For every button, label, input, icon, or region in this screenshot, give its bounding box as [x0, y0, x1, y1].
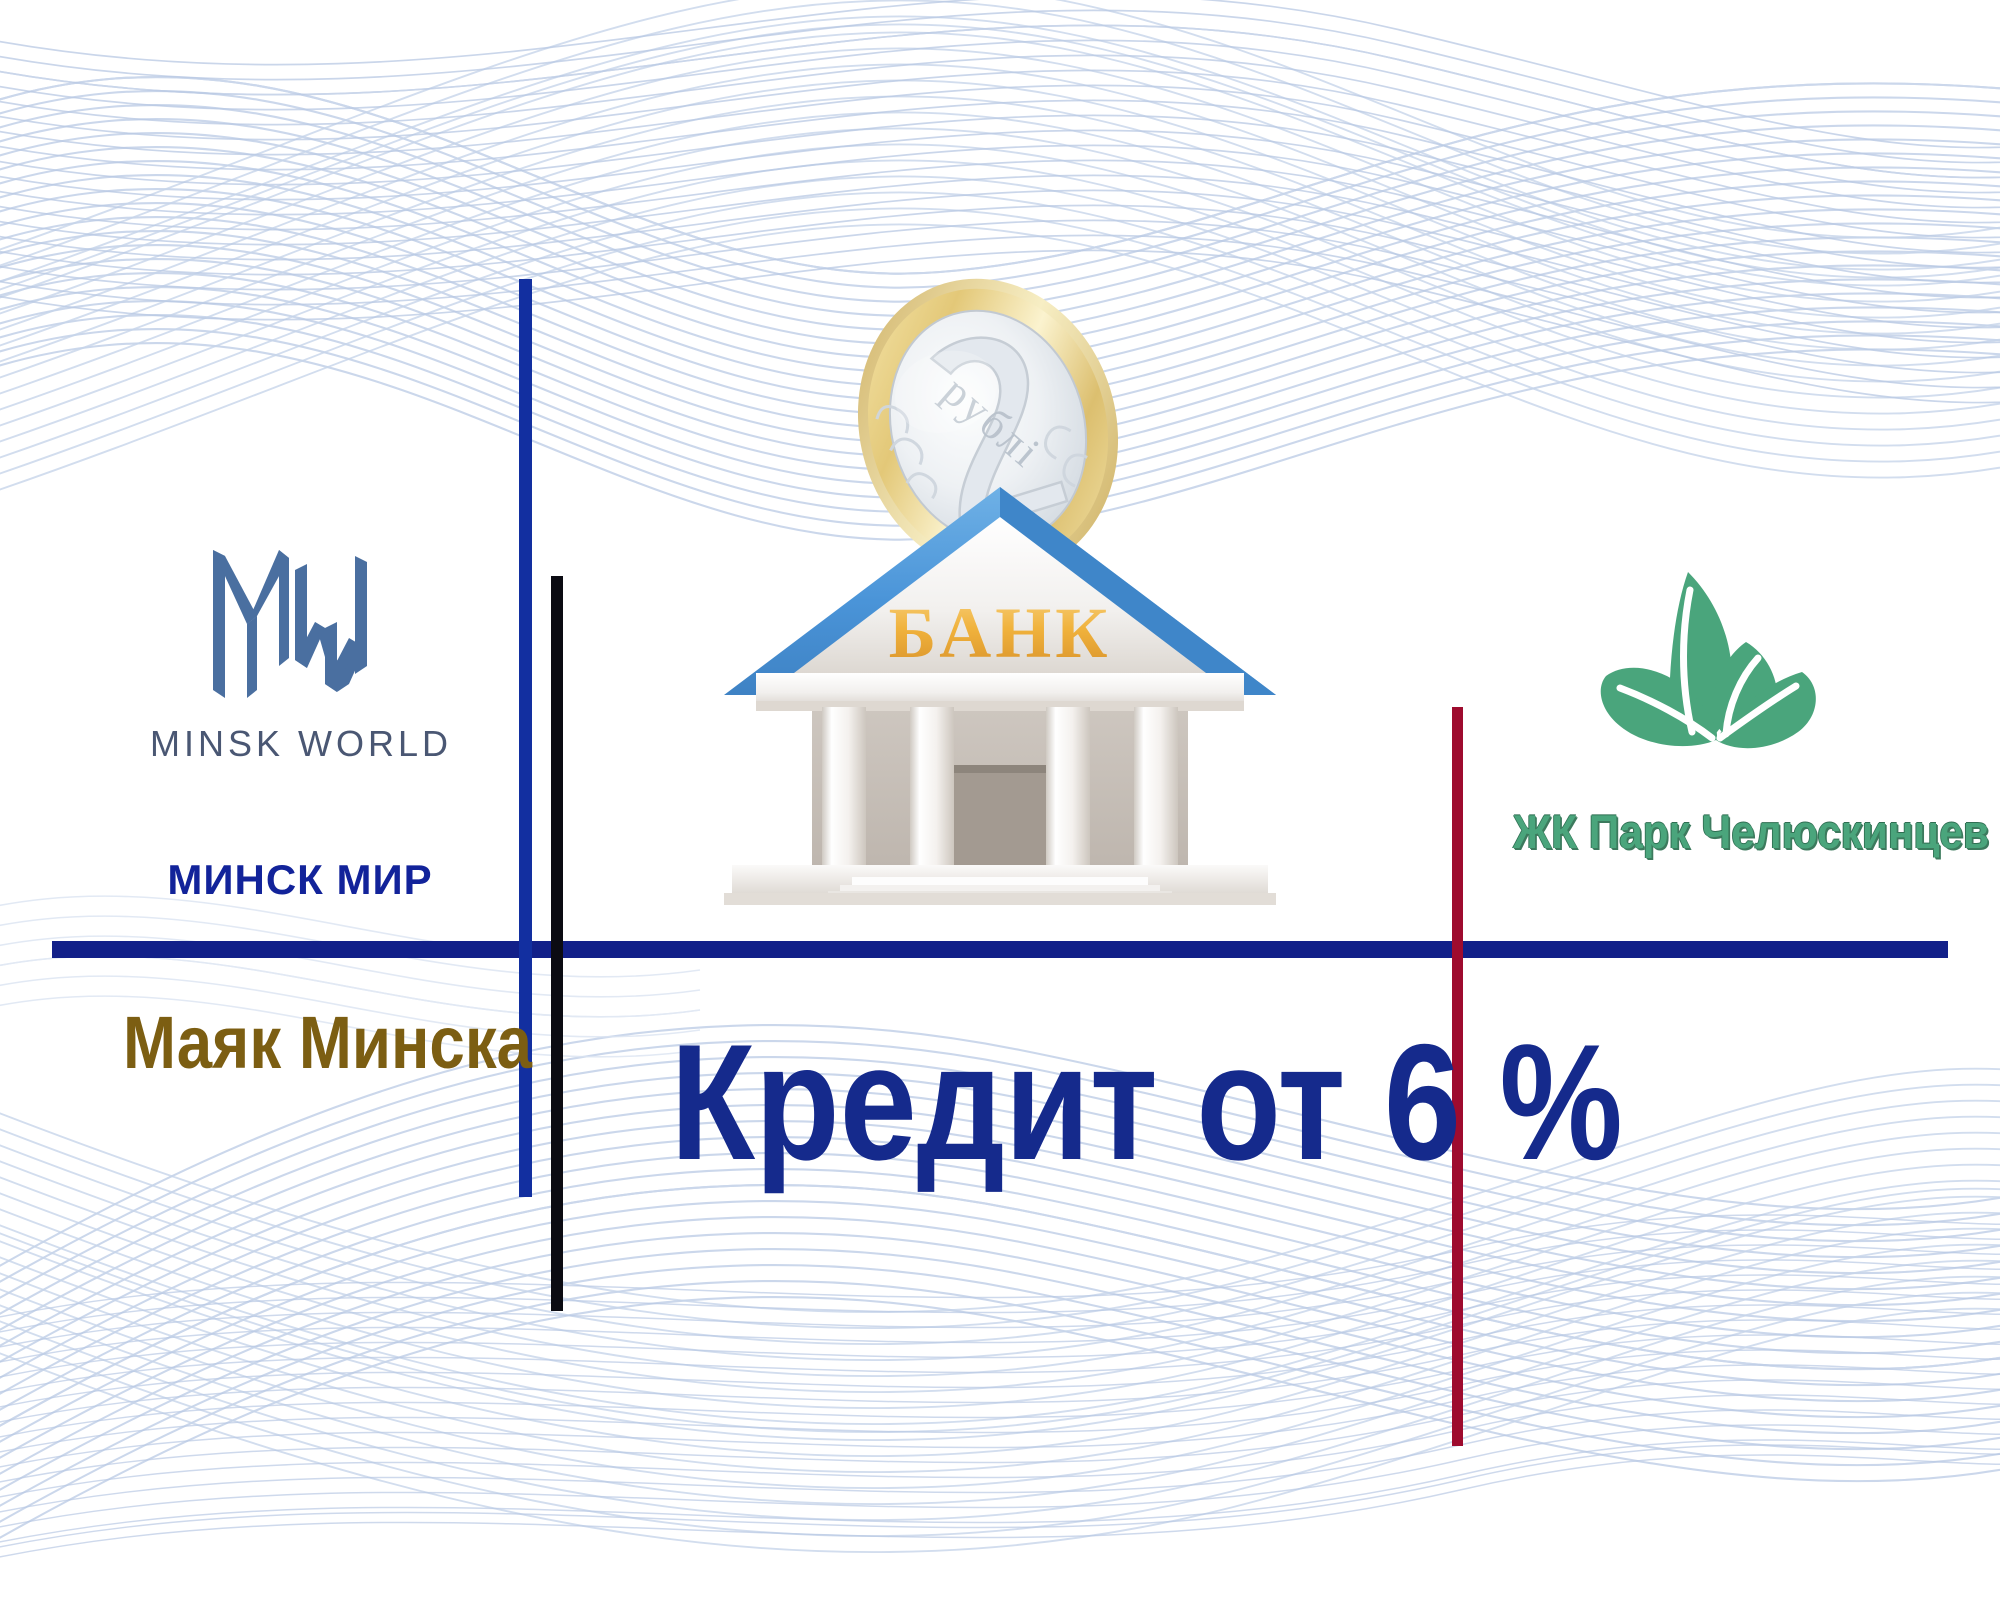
park-chelyuskintsev-logo-block: ЖК Парк Челюскинцев	[1490, 560, 1950, 859]
horizontal-divider-rule	[52, 941, 1948, 958]
bank-building-with-coin-icon: рублі БАНК	[700, 265, 1300, 905]
promo-poster: MINSK WORLD МИНСК МИР Маяк Минска	[0, 0, 2000, 1600]
minsk-world-logo-block: MINSK WORLD	[150, 540, 450, 765]
park-chelyuskintsev-name: ЖК Парк Челюскинцев	[1513, 804, 1927, 859]
black-vertical-divider-rule	[551, 576, 563, 1311]
minsk-mir-subtitle: МИНСК МИР	[100, 856, 500, 904]
bank-building-label: БАНК	[889, 593, 1112, 673]
headline-credit-rate: Кредит от 6 %	[670, 1020, 1409, 1185]
mayak-minska-project-name: Маяк Минска	[123, 1000, 467, 1085]
minsk-world-wordmark: MINSK WORLD	[150, 723, 450, 765]
mw-monogram-icon	[195, 540, 405, 705]
green-leaves-icon	[1570, 560, 1870, 790]
